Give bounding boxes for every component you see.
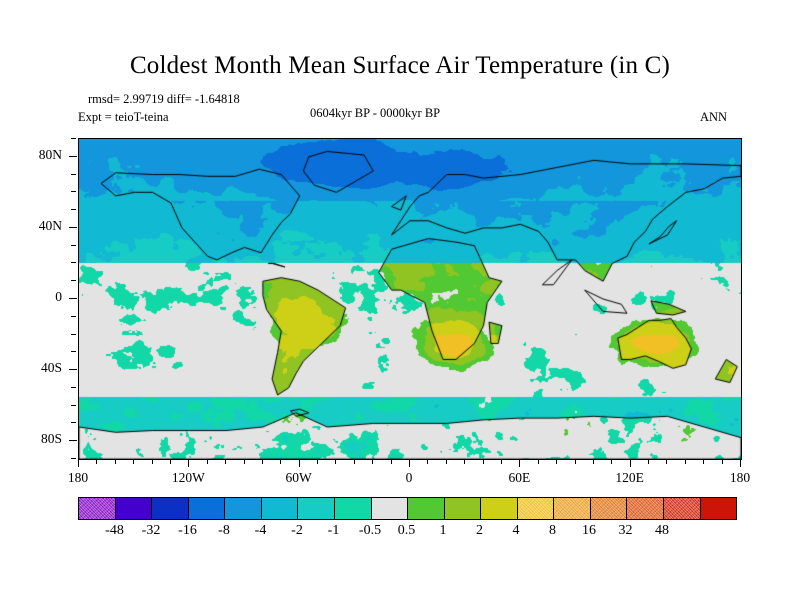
- x-tick: [648, 459, 649, 464]
- season-annotation: ANN: [700, 110, 727, 125]
- period-annotation: 0604kyr BP - 0000kyr BP: [310, 106, 440, 121]
- x-axis-label: 60W: [259, 470, 339, 486]
- x-tick: [372, 459, 373, 464]
- x-tick: [133, 459, 134, 464]
- colorbar-cell: [518, 498, 555, 519]
- x-tick: [483, 459, 484, 464]
- experiment-annotation: Expt = teioT-teina: [78, 110, 169, 125]
- y-axis-label: 80S: [0, 431, 62, 447]
- map-plot-area: [78, 138, 742, 460]
- colorbar-tick-label: 16: [582, 523, 596, 539]
- x-tick: [170, 459, 171, 464]
- colorbar-tick-label: 8: [549, 523, 556, 539]
- y-tick: [71, 458, 76, 459]
- x-tick: [244, 459, 245, 464]
- x-tick: [666, 459, 667, 464]
- y-tick: [69, 227, 77, 228]
- y-axis-label: 40S: [0, 360, 62, 376]
- colorbar-tick-label: -4: [255, 523, 267, 539]
- x-tick: [611, 459, 612, 464]
- y-tick: [69, 440, 77, 441]
- x-tick: [354, 459, 355, 464]
- y-tick: [71, 316, 76, 317]
- colorbar-tick-label: -0.5: [359, 523, 381, 539]
- colorbar-cell: [627, 498, 664, 519]
- x-tick: [280, 459, 281, 464]
- y-tick: [69, 156, 77, 157]
- y-tick: [71, 174, 76, 175]
- colorbar-cell: [225, 498, 262, 519]
- x-tick: [225, 459, 226, 464]
- y-tick: [71, 351, 76, 352]
- colorbar-cell: [79, 498, 116, 519]
- x-tick: [188, 459, 189, 467]
- colorbar-tick-label: 1: [440, 523, 447, 539]
- x-tick: [501, 459, 502, 464]
- x-axis-label: 120W: [148, 470, 228, 486]
- x-tick: [115, 459, 116, 464]
- x-tick: [556, 459, 557, 464]
- x-tick: [630, 459, 631, 467]
- y-tick: [69, 369, 77, 370]
- x-tick: [409, 459, 410, 467]
- colorbar-tick-label: -32: [142, 523, 161, 539]
- y-axis-label: 80N: [0, 147, 62, 163]
- y-tick: [71, 245, 76, 246]
- y-tick: [71, 138, 76, 139]
- x-tick: [464, 459, 465, 464]
- y-tick: [71, 334, 76, 335]
- colorbar-tick-label: -8: [218, 523, 230, 539]
- colorbar-cell: [591, 498, 628, 519]
- colorbar-tick-label: -2: [291, 523, 303, 539]
- x-tick: [575, 459, 576, 464]
- y-tick: [71, 387, 76, 388]
- y-tick: [71, 422, 76, 423]
- x-tick: [78, 459, 79, 467]
- x-tick: [722, 459, 723, 464]
- colorbar-tick-label: 4: [513, 523, 520, 539]
- colorbar-tick-label: -48: [105, 523, 124, 539]
- x-tick: [593, 459, 594, 464]
- colorbar-cell: [481, 498, 518, 519]
- colorbar-cell: [701, 498, 737, 519]
- colorbar-cell: [372, 498, 409, 519]
- x-axis-label: 120E: [590, 470, 670, 486]
- y-axis-label: 0: [0, 289, 62, 305]
- x-tick: [335, 459, 336, 464]
- x-axis-label: 60E: [479, 470, 559, 486]
- y-tick: [71, 262, 76, 263]
- x-tick: [152, 459, 153, 464]
- x-tick: [685, 459, 686, 464]
- y-tick: [71, 191, 76, 192]
- x-tick: [446, 459, 447, 464]
- y-tick: [71, 280, 76, 281]
- x-tick: [391, 459, 392, 464]
- colorbar-tick-label: -16: [178, 523, 197, 539]
- x-tick: [96, 459, 97, 464]
- y-axis-label: 40N: [0, 218, 62, 234]
- y-tick: [71, 405, 76, 406]
- x-tick: [207, 459, 208, 464]
- colorbar-cell: [298, 498, 335, 519]
- colorbar-tick-label: 32: [619, 523, 633, 539]
- colorbar-labels: -48-32-16-8-4-2-1-0.50.51248163248: [0, 523, 800, 545]
- rmsd-diff-annotation: rmsd= 2.99719 diff= -1.64818: [88, 92, 240, 107]
- map-raster: [79, 139, 741, 459]
- colorbar-cell: [664, 498, 701, 519]
- colorbar-cell: [445, 498, 482, 519]
- x-tick: [519, 459, 520, 467]
- x-tick: [427, 459, 428, 464]
- colorbar-cell: [116, 498, 153, 519]
- x-axis-label: 180: [700, 470, 780, 486]
- colorbar-tick-label: 0.5: [398, 523, 416, 539]
- x-tick: [703, 459, 704, 464]
- x-axis-label: 180: [38, 470, 118, 486]
- x-tick: [299, 459, 300, 467]
- climate-map-figure: Coldest Month Mean Surface Air Temperatu…: [0, 0, 800, 600]
- x-axis-label: 0: [369, 470, 449, 486]
- y-tick: [69, 298, 77, 299]
- y-tick: [71, 209, 76, 210]
- x-tick: [262, 459, 263, 464]
- page-title: Coldest Month Mean Surface Air Temperatu…: [0, 52, 800, 80]
- colorbar-cell: [408, 498, 445, 519]
- colorbar-cell: [189, 498, 226, 519]
- colorbar-cell: [262, 498, 299, 519]
- colorbar-tick-label: -1: [328, 523, 340, 539]
- x-tick: [538, 459, 539, 464]
- x-tick: [740, 459, 741, 467]
- colorbar-cell: [554, 498, 591, 519]
- colorbar-tick-label: 48: [655, 523, 669, 539]
- x-tick: [317, 459, 318, 464]
- colorbar: [78, 497, 737, 520]
- colorbar-cell: [335, 498, 372, 519]
- colorbar-tick-label: 2: [476, 523, 483, 539]
- colorbar-cell: [152, 498, 189, 519]
